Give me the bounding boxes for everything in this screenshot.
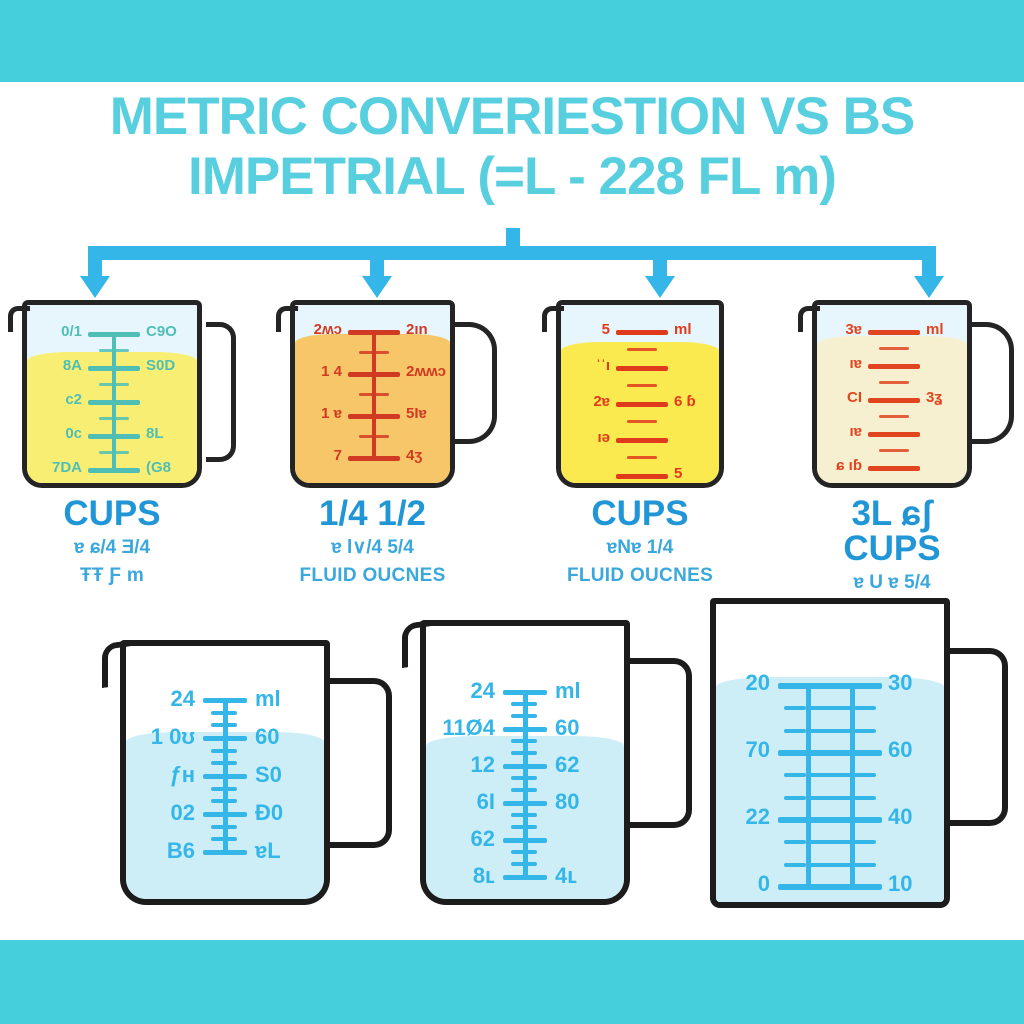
- pitcher-3-rung-5: [808, 796, 852, 800]
- p1scale-label-right-4: ɐL: [255, 838, 329, 864]
- pitcher-3-rung-2: [808, 729, 852, 733]
- arrow-head-1-icon: [80, 276, 110, 298]
- cup-4-caption-line-1: 3L ɕʃ CUPS: [812, 496, 972, 566]
- c3scale-minor-0: [627, 348, 657, 351]
- pitcher-3-outer-left-2: [784, 729, 806, 733]
- c3scale-label-left-0: 5: [550, 321, 610, 338]
- pitcher-3-rail-1: [850, 686, 855, 887]
- c3scale-tick-3: [616, 438, 668, 443]
- cup-3-scale: 5mlˈˈı2ɐ6 ɓıə5: [556, 300, 724, 488]
- c1scale-tick-1: [88, 366, 140, 371]
- p2scale-minor-1-33: [511, 739, 537, 743]
- p1scale-label-left-0: 24: [121, 686, 195, 712]
- c2scale-minor-2: [359, 435, 389, 438]
- pitcher-1-scale: 24ml1 0ʊ60ƒʜS002Ð0B6ɐL: [120, 640, 330, 905]
- p2scale-tick-5: [503, 875, 547, 880]
- p2scale-label-right-0: ml: [555, 678, 629, 704]
- pitcher-3[interactable]: 203070602240010: [710, 598, 950, 908]
- cup-3-caption-line-2: ɐNɐ 1/4: [556, 538, 724, 557]
- cup-2-caption: 1/4 1/2 ɐ l∨/4 5/4 FLUID OUCNES: [290, 496, 455, 585]
- c2scale-label-right-1: 2ʍʍɔ: [406, 363, 468, 380]
- pitcher-3-rung-4: [808, 773, 852, 777]
- p1scale-label-left-4: B6: [121, 838, 195, 864]
- c1scale-minor-2: [99, 417, 129, 420]
- c4scale-tick-3: [868, 432, 920, 437]
- pitcher-3-outer-right-5: [854, 796, 876, 800]
- p1scale-minor-3-33: [211, 825, 237, 829]
- p2scale-minor-0-33: [511, 702, 537, 706]
- c1scale-label-right-0: C9O: [146, 323, 208, 340]
- pitcher-3-rung-8: [808, 863, 852, 867]
- p2scale-tick-2: [503, 764, 547, 769]
- c2scale-tick-1: [348, 372, 400, 377]
- cup-2-scale: 2ʍɔ2ın1 42ʍʍɔ1 ɐ5Ɩɐ74ʒ: [290, 300, 455, 488]
- pitcher-3-outer-right-8: [854, 863, 876, 867]
- c4scale-minor-0: [879, 347, 909, 350]
- cup-1-caption-line-3: ŦŦ Ƒ m: [22, 566, 202, 585]
- p2scale-minor-3-33: [511, 813, 537, 817]
- c1scale-label-left-0: 0/1: [22, 323, 82, 340]
- p1scale-tick-0: [203, 698, 247, 703]
- page-title: METRIC CONVERIESTION VS BS IMPETRIAL (=L…: [0, 90, 1024, 204]
- p2scale-label-left-1: 11Ø4: [421, 715, 495, 741]
- pitcher-3-outer-left-1: [784, 706, 806, 710]
- cup-1-scale: 0/1C9O8AS0Dc20c8L7DA(G8: [22, 300, 202, 488]
- measuring-cup-2[interactable]: 2ʍɔ2ın1 42ʍʍɔ1 ɐ5Ɩɐ74ʒ 1/4 1/2 ɐ l∨/4 5/…: [290, 300, 455, 488]
- c4scale-label-left-1: ıɐ: [802, 355, 862, 372]
- arrow-head-4-icon: [914, 276, 944, 298]
- p2scale-label-left-5: 8ʟ: [421, 863, 495, 889]
- cup-1-caption: CUPS ɐ ɕ/4 Ǝ/4 ŦŦ Ƒ m: [22, 496, 202, 585]
- p2scale-label-left-4: 62: [421, 826, 495, 852]
- c4scale-label-right-0: ml: [926, 321, 988, 338]
- p2scale-label-left-2: 12: [421, 752, 495, 778]
- c3scale-minor-2: [627, 420, 657, 423]
- pitcher-3-label-left-0: 20: [698, 670, 770, 696]
- c1scale-minor-3: [99, 451, 129, 454]
- c1scale-tick-4: [88, 468, 140, 473]
- c3scale-label-right-0: ml: [674, 321, 736, 338]
- pitcher-3-outer-left-7: [784, 840, 806, 844]
- pitcher-3-label-right-3: 10: [888, 871, 960, 897]
- c3scale-minor-3: [627, 456, 657, 459]
- p1scale-tick-3: [203, 812, 247, 817]
- p1scale-minor-0-33: [211, 711, 237, 715]
- c2scale-label-left-3: 7: [282, 447, 342, 464]
- pitcher-2-handle: [626, 658, 692, 828]
- connector-stub: [506, 228, 520, 248]
- c2scale-tick-2: [348, 414, 400, 419]
- p1scale-label-right-2: S0: [255, 762, 329, 788]
- c2scale-label-right-2: 5Ɩɐ: [406, 405, 468, 422]
- pitcher-2[interactable]: 24ml11Ø46012626Ɩ80628ʟ4ʟ: [420, 620, 630, 905]
- c3scale-label-right-4: 5: [674, 465, 736, 482]
- c1scale-label-right-1: S0D: [146, 357, 208, 374]
- c2scale-label-left-1: 1 4: [282, 363, 342, 380]
- pitcher-3-scale: 203070602240010: [710, 598, 950, 908]
- top-accent-band: [0, 0, 1024, 82]
- measuring-cup-4[interactable]: 3ɐmlıɐCƖ3ʓıɐɕ ıɓ 3L ɕʃ CUPS ɐ U ɐ 5/4 GA…: [812, 300, 972, 488]
- c4scale-label-left-4: ɕ ıɓ: [802, 457, 862, 474]
- title-line-1: METRIC CONVERIESTION VS BS: [0, 90, 1024, 144]
- p2scale-tick-4: [503, 838, 547, 843]
- pitcher-3-label-left-2: 22: [698, 804, 770, 830]
- p1scale-minor-1-66: [211, 761, 237, 765]
- c1scale-label-left-2: c2: [22, 391, 82, 408]
- c4scale-label-left-3: ıɐ: [802, 423, 862, 440]
- c1scale-label-left-4: 7DA: [22, 459, 82, 476]
- c4scale-label-left-0: 3ɐ: [802, 321, 862, 338]
- p1scale-label-right-3: Ð0: [255, 800, 329, 826]
- pitcher-3-outer-right-1: [854, 706, 876, 710]
- c4scale-tick-1: [868, 364, 920, 369]
- pitcher-1-handle: [326, 678, 392, 848]
- title-line-2: IMPETRIAL (=L - 228 FL m): [0, 150, 1024, 204]
- pitcher-3-major-1: [778, 750, 882, 756]
- c4scale-minor-2: [879, 415, 909, 418]
- c1scale-minor-1: [99, 383, 129, 386]
- c1scale-label-right-3: 8L: [146, 425, 208, 442]
- p2scale-label-right-1: 60: [555, 715, 629, 741]
- pitcher-3-outer-left-5: [784, 796, 806, 800]
- cup-4-caption-line-2: ɐ U ɐ 5/4: [812, 573, 972, 592]
- pitcher-3-outer-right-2: [854, 729, 876, 733]
- c3scale-label-right-2: 6 ɓ: [674, 393, 736, 410]
- pitcher-1[interactable]: 24ml1 0ʊ60ƒʜS002Ð0B6ɐL: [120, 640, 330, 905]
- cup-3-caption-line-3: FLUID OUCNES: [556, 566, 724, 585]
- pitcher-3-label-right-1: 60: [888, 737, 960, 763]
- cup-1-caption-line-2: ɐ ɕ/4 Ǝ/4: [22, 538, 202, 557]
- c2scale-minor-1: [359, 393, 389, 396]
- p2scale-tick-1: [503, 727, 547, 732]
- pitcher-3-major-2: [778, 817, 882, 823]
- c4scale-tick-4: [868, 466, 920, 471]
- p1scale-minor-2-33: [211, 787, 237, 791]
- pitcher-3-rung-1: [808, 706, 852, 710]
- c3scale-tick-4: [616, 474, 668, 479]
- c4scale-tick-0: [868, 330, 920, 335]
- cup-2-caption-line-1: 1/4 1/2: [290, 496, 455, 531]
- c4scale-tick-2: [868, 398, 920, 403]
- c1scale-tick-0: [88, 332, 140, 337]
- cup-1-handle: [206, 322, 236, 462]
- p2scale-label-left-0: 24: [421, 678, 495, 704]
- p1scale-label-right-0: ml: [255, 686, 329, 712]
- p2scale-label-right-3: 80: [555, 789, 629, 815]
- pitcher-3-rung-7: [808, 840, 852, 844]
- c1scale-label-right-4: (G8: [146, 459, 208, 476]
- arrow-connector: [0, 228, 1024, 290]
- c2scale-tick-0: [348, 330, 400, 335]
- c2scale-minor-0: [359, 351, 389, 354]
- c2scale-label-left-2: 1 ɐ: [282, 405, 342, 422]
- cup-2-caption-line-3: FLUID OUCNES: [290, 566, 455, 585]
- p2scale-label-right-2: 62: [555, 752, 629, 778]
- c2scale-label-right-0: 2ın: [406, 321, 468, 338]
- c1scale-tick-3: [88, 434, 140, 439]
- pitcher-3-major-0: [778, 683, 882, 689]
- arrow-head-2-icon: [362, 276, 392, 298]
- cup-2-handle: [451, 322, 497, 444]
- p1scale-label-right-1: 60: [255, 724, 329, 750]
- c1scale-tick-2: [88, 400, 140, 405]
- p2scale-label-left-3: 6Ɩ: [421, 789, 495, 815]
- p1scale-minor-2-66: [211, 799, 237, 803]
- p1scale-tick-4: [203, 850, 247, 855]
- pitcher-3-outer-left-4: [784, 773, 806, 777]
- c3scale-label-left-1: ˈˈı: [550, 357, 610, 374]
- c4scale-label-left-2: CƖ: [802, 389, 862, 406]
- p2scale-minor-2-33: [511, 776, 537, 780]
- p1scale-minor-1-33: [211, 749, 237, 753]
- p2scale-minor-4-33: [511, 850, 537, 854]
- c3scale-minor-1: [627, 384, 657, 387]
- measuring-cup-3[interactable]: 5mlˈˈı2ɐ6 ɓıə5 CUPS ɐNɐ 1/4 FLUID OUCNES: [556, 300, 724, 488]
- p2scale-minor-3-66: [511, 825, 537, 829]
- bottom-accent-band: [0, 940, 1024, 1024]
- arrow-head-3-icon: [645, 276, 675, 298]
- p1scale-label-left-3: 02: [121, 800, 195, 826]
- p2scale-tick-0: [503, 690, 547, 695]
- cup-3-caption: CUPS ɐNɐ 1/4 FLUID OUCNES: [556, 496, 724, 585]
- pitcher-3-outer-right-7: [854, 840, 876, 844]
- c1scale-label-left-3: 0c: [22, 425, 82, 442]
- c3scale-tick-0: [616, 330, 668, 335]
- p1scale-minor-0-66: [211, 723, 237, 727]
- pitcher-2-scale: 24ml11Ø46012626Ɩ80628ʟ4ʟ: [420, 620, 630, 905]
- cup-4-scale: 3ɐmlıɐCƖ3ʓıɐɕ ıɓ: [812, 300, 972, 488]
- cup-1-caption-line-1: CUPS: [22, 496, 202, 531]
- p1scale-label-left-1: 1 0ʊ: [121, 724, 195, 750]
- pitcher-3-label-right-2: 40: [888, 804, 960, 830]
- c3scale-label-left-2: 2ɐ: [550, 393, 610, 410]
- p2scale-minor-1-66: [511, 751, 537, 755]
- c2scale-label-left-0: 2ʍɔ: [282, 321, 342, 338]
- measuring-cup-1[interactable]: 0/1C9O8AS0Dc20c8L7DA(G8 CUPS ɐ ɕ/4 Ǝ/4 Ŧ…: [22, 300, 202, 488]
- p1scale-label-left-2: ƒʜ: [121, 762, 195, 788]
- p1scale-tick-1: [203, 736, 247, 741]
- cup-2-caption-line-2: ɐ l∨/4 5/4: [290, 538, 455, 557]
- pitcher-3-label-left-3: 0: [698, 871, 770, 897]
- cup-3-caption-line-1: CUPS: [556, 496, 724, 531]
- c2scale-label-right-3: 4ʒ: [406, 447, 468, 464]
- p1scale-minor-3-66: [211, 837, 237, 841]
- c1scale-label-left-1: 8A: [22, 357, 82, 374]
- c3scale-tick-1: [616, 366, 668, 371]
- pitcher-3-label-left-1: 70: [698, 737, 770, 763]
- cup-4-handle: [968, 322, 1014, 444]
- p2scale-minor-2-66: [511, 788, 537, 792]
- p2scale-minor-4-66: [511, 862, 537, 866]
- c2scale-tick-3: [348, 456, 400, 461]
- pitcher-3-outer-left-8: [784, 863, 806, 867]
- pitcher-3-rail-0: [806, 686, 811, 887]
- c3scale-tick-2: [616, 402, 668, 407]
- pitcher-3-label-right-0: 30: [888, 670, 960, 696]
- p1scale-tick-2: [203, 774, 247, 779]
- c4scale-label-right-2: 3ʓ: [926, 389, 988, 406]
- pitcher-3-outer-right-4: [854, 773, 876, 777]
- c1scale-minor-0: [99, 349, 129, 352]
- p2scale-minor-0-66: [511, 714, 537, 718]
- c4scale-minor-1: [879, 381, 909, 384]
- c4scale-minor-3: [879, 449, 909, 452]
- c3scale-label-left-3: ıə: [550, 429, 610, 446]
- pitcher-3-major-3: [778, 884, 882, 890]
- connector-bar: [88, 246, 936, 260]
- p2scale-tick-3: [503, 801, 547, 806]
- p2scale-label-right-5: 4ʟ: [555, 863, 629, 889]
